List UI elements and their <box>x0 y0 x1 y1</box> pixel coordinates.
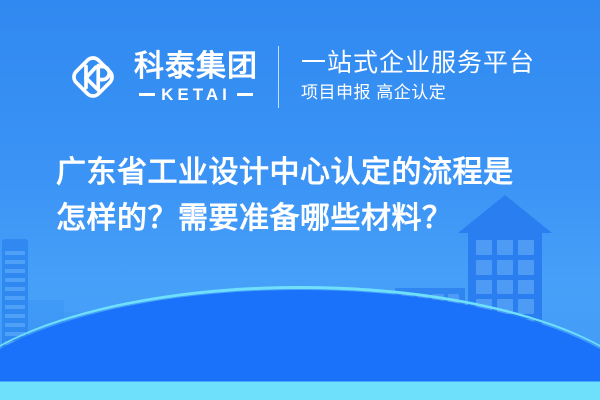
promo-banner: 科泰集团 KETAI 一站式企业服务平台 项目申报 高企认定 广东省工业设计中心… <box>0 0 600 400</box>
logo-dash-right-icon <box>237 93 253 96</box>
page-title: 广东省工业设计中心认定的流程是 怎样的？需要准备哪些材料？ <box>0 150 600 241</box>
window-cell <box>476 240 492 255</box>
page-title-line-1: 广东省工业设计中心认定的流程是 <box>56 150 544 196</box>
brand-name-cn: 科泰集团 <box>134 51 258 83</box>
page-title-line-2: 怎样的？需要准备哪些材料？ <box>56 196 544 242</box>
window-cell <box>476 260 492 275</box>
window-cell <box>476 280 492 295</box>
logo-dash-left-icon <box>139 93 155 96</box>
window-cell <box>518 299 534 314</box>
header-tagline: 一站式企业服务平台 项目申报 高企认定 <box>301 49 535 106</box>
brand-logo-wordmark: 科泰集团 KETAI <box>134 51 258 103</box>
ketai-diamond-kt-monogram-icon <box>65 49 121 105</box>
tagline-main-text: 一站式企业服务平台 <box>301 49 535 78</box>
window-cell <box>518 260 534 275</box>
window-cell <box>518 240 534 255</box>
brand-name-en-row: KETAI <box>139 86 253 103</box>
window-cell <box>518 280 534 295</box>
header-divider <box>278 46 279 108</box>
window-cell <box>497 260 513 275</box>
tagline-sub-text: 项目申报 高企认定 <box>301 80 535 106</box>
brand-logo[interactable]: 科泰集团 KETAI <box>65 49 258 105</box>
banner-header: 科泰集团 KETAI 一站式企业服务平台 项目申报 高企认定 <box>0 38 600 116</box>
window-cell <box>497 280 513 295</box>
window-cell <box>497 240 513 255</box>
brand-name-en: KETAI <box>161 86 231 103</box>
